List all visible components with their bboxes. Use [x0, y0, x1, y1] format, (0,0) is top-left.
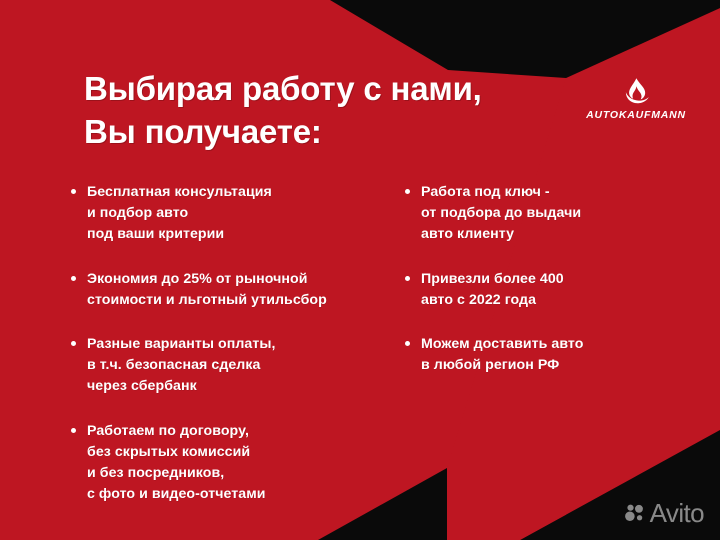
list-item-line: и подбор авто: [87, 203, 400, 224]
list-item-line: авто с 2022 года: [421, 290, 704, 311]
page-title: Выбирая работу с нами, Вы получаете:: [84, 68, 584, 154]
list-item-line: Бесплатная консультация: [87, 182, 400, 203]
brand-wordmark: AUTOKAUFMANN: [583, 109, 689, 121]
list-item-line: от подбора до выдачи: [421, 203, 704, 224]
list-item-line: Экономия до 25% от рыночной: [87, 269, 400, 290]
list-item-text: Можем доставить авто в любой регион РФ: [421, 334, 704, 376]
list-item-text: Бесплатная консультация и подбор авто по…: [87, 182, 400, 245]
list-item-line: Работаем по договору,: [87, 421, 400, 442]
list-item: Экономия до 25% от рыночной стоимости и …: [70, 269, 400, 311]
headline-line-1: Выбирая работу с нами,: [84, 68, 584, 111]
list-item-line: Привезли более 400: [421, 269, 704, 290]
list-item: Работа под ключ - от подбора до выдачи а…: [404, 182, 704, 245]
bullet-dot-icon: [71, 189, 76, 194]
list-item-text: Разные варианты оплаты, в т.ч. безопасна…: [87, 334, 400, 397]
avito-dots-icon: [623, 502, 645, 524]
list-item-line: стоимости и льготный утильсбор: [87, 290, 400, 311]
list-item-line: Работа под ключ -: [421, 182, 704, 203]
bullet-dot-icon: [71, 276, 76, 281]
list-item-line: авто клиенту: [421, 224, 704, 245]
avito-label: Avito: [650, 500, 704, 526]
benefits-right-column: Работа под ключ - от подбора до выдачи а…: [404, 182, 704, 376]
list-item-line: без скрытых комиссий: [87, 442, 400, 463]
avito-watermark: Avito: [623, 500, 704, 526]
flame-swoosh-icon: [621, 76, 651, 106]
promo-banner: Выбирая работу с нами, Вы получаете: AUT…: [0, 0, 720, 540]
list-item-line: через сбербанк: [87, 376, 400, 397]
list-item-line: Можем доставить авто: [421, 334, 704, 355]
headline-line-2: Вы получаете:: [84, 111, 584, 154]
list-item-text: Привезли более 400 авто с 2022 года: [421, 269, 704, 311]
list-item: Разные варианты оплаты, в т.ч. безопасна…: [70, 334, 400, 397]
benefits-left-column: Бесплатная консультация и подбор авто по…: [70, 182, 400, 505]
list-item-text: Работаем по договору, без скрытых комисс…: [87, 421, 400, 505]
list-item-line: под ваши критерии: [87, 224, 400, 245]
bullet-dot-icon: [405, 189, 410, 194]
list-item: Можем доставить авто в любой регион РФ: [404, 334, 704, 376]
bullet-dot-icon: [405, 341, 410, 346]
list-item-text: Работа под ключ - от подбора до выдачи а…: [421, 182, 704, 245]
list-item-line: в любой регион РФ: [421, 355, 704, 376]
banner-content: Выбирая работу с нами, Вы получаете: AUT…: [0, 0, 720, 540]
list-item-line: Разные варианты оплаты,: [87, 334, 400, 355]
list-item: Бесплатная консультация и подбор авто по…: [70, 182, 400, 245]
list-item: Работаем по договору, без скрытых комисс…: [70, 421, 400, 505]
bullet-dot-icon: [405, 276, 410, 281]
list-item-line: с фото и видео-отчетами: [87, 484, 400, 505]
brand-logo: AUTOKAUFMANN: [583, 76, 689, 121]
list-item-line: в т.ч. безопасная сделка: [87, 355, 400, 376]
list-item-line: и без посредников,: [87, 463, 400, 484]
bullet-dot-icon: [71, 341, 76, 346]
bullet-dot-icon: [71, 428, 76, 433]
list-item: Привезли более 400 авто с 2022 года: [404, 269, 704, 311]
list-item-text: Экономия до 25% от рыночной стоимости и …: [87, 269, 400, 311]
